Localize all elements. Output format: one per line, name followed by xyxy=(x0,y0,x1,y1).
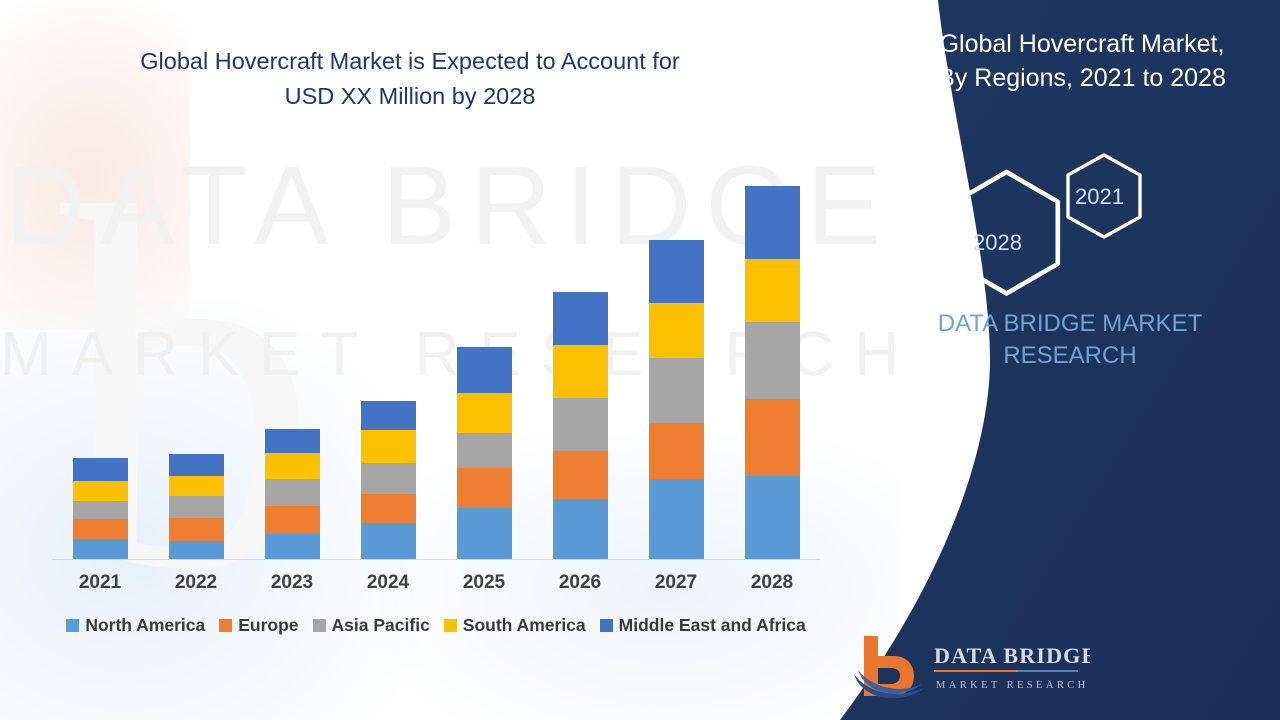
panel-brand-line-1: DATA BRIDGE MARKET xyxy=(900,308,1240,340)
bar-segment-north-america[interactable] xyxy=(649,479,704,559)
hexagon-end-year: 2028 xyxy=(955,172,1058,294)
bar-segment-asia-pacific[interactable] xyxy=(649,358,704,422)
panel-brand-name: DATA BRIDGE MARKET RESEARCH xyxy=(900,308,1240,373)
bar-segment-asia-pacific[interactable] xyxy=(169,496,224,518)
bar-segment-europe[interactable] xyxy=(265,506,320,534)
legend-item-north-america[interactable]: North America xyxy=(66,615,205,636)
stacked-bar[interactable] xyxy=(457,347,512,559)
bar-column-2027[interactable] xyxy=(628,240,724,559)
x-axis-label-2028: 2028 xyxy=(724,572,820,594)
bar-segment-north-america[interactable] xyxy=(457,508,512,559)
panel-title-line-1: Global Hovercraft Market, xyxy=(912,28,1252,62)
hexagon-svg: 2028 2021 xyxy=(900,145,1220,300)
bar-segment-south-america[interactable] xyxy=(553,345,608,397)
bar-segment-europe[interactable] xyxy=(73,519,128,539)
x-axis-label-2021: 2021 xyxy=(52,572,148,594)
x-axis-labels: 20212022202320242025202620272028 xyxy=(52,572,820,594)
right-info-panel: Global Hovercraft Market, By Regions, 20… xyxy=(840,0,1280,720)
logo-b-icon xyxy=(854,636,924,698)
logo-name-top: DATA BRIDGE xyxy=(934,643,1090,668)
bar-segment-south-america[interactable] xyxy=(361,430,416,463)
bar-segment-asia-pacific[interactable] xyxy=(73,501,128,519)
legend-swatch-icon xyxy=(600,619,613,632)
x-axis-label-2023: 2023 xyxy=(244,572,340,594)
panel-title-line-2: By Regions, 2021 to 2028 xyxy=(912,62,1252,96)
legend-item-europe[interactable]: Europe xyxy=(219,615,298,636)
stacked-bar[interactable] xyxy=(745,186,800,559)
bar-segment-asia-pacific[interactable] xyxy=(745,322,800,398)
legend-item-asia-pacific[interactable]: Asia Pacific xyxy=(313,615,430,636)
bar-segment-middle-east-and-africa[interactable] xyxy=(73,458,128,481)
chart-legend: North AmericaEuropeAsia PacificSouth Ame… xyxy=(52,615,820,636)
stacked-bar[interactable] xyxy=(265,429,320,559)
bar-column-2026[interactable] xyxy=(532,292,628,559)
x-axis-label-2022: 2022 xyxy=(148,572,244,594)
bar-segment-asia-pacific[interactable] xyxy=(361,463,416,494)
bar-segment-north-america[interactable] xyxy=(73,539,128,559)
bar-segment-north-america[interactable] xyxy=(265,534,320,559)
company-logo: DATA BRIDGE MARKET RESEARCH xyxy=(850,630,1090,702)
bar-segment-middle-east-and-africa[interactable] xyxy=(265,429,320,453)
stacked-bar[interactable] xyxy=(361,401,416,559)
x-axis-label-2026: 2026 xyxy=(532,572,628,594)
bar-segment-middle-east-and-africa[interactable] xyxy=(361,401,416,430)
bar-segment-asia-pacific[interactable] xyxy=(553,398,608,451)
bar-segment-europe[interactable] xyxy=(361,494,416,523)
stacked-bar[interactable] xyxy=(553,292,608,559)
x-axis-line xyxy=(52,559,820,560)
panel-title: Global Hovercraft Market, By Regions, 20… xyxy=(912,28,1252,96)
bar-segment-europe[interactable] xyxy=(553,451,608,499)
legend-label: South America xyxy=(463,615,586,636)
slide-canvas: b DATA BRIDGE MARKET RESEARCH Global Hov… xyxy=(0,0,1280,720)
bar-segment-north-america[interactable] xyxy=(169,541,224,559)
bar-segment-europe[interactable] xyxy=(745,399,800,476)
legend-label: Asia Pacific xyxy=(332,615,430,636)
bar-segment-middle-east-and-africa[interactable] xyxy=(457,347,512,392)
logo-name-bottom: MARKET RESEARCH xyxy=(936,680,1089,691)
bar-column-2022[interactable] xyxy=(148,454,244,559)
bar-segment-south-america[interactable] xyxy=(649,303,704,358)
chart-plot-area xyxy=(52,150,820,560)
legend-swatch-icon xyxy=(219,619,232,632)
stacked-bar[interactable] xyxy=(169,454,224,559)
bar-column-2028[interactable] xyxy=(724,186,820,559)
panel-brand-line-2: RESEARCH xyxy=(900,340,1240,372)
bar-column-2023[interactable] xyxy=(244,429,340,559)
hexagon-end-year-label: 2028 xyxy=(973,230,1022,255)
chart-title-line-1: Global Hovercraft Market is Expected to … xyxy=(60,44,760,79)
bar-segment-middle-east-and-africa[interactable] xyxy=(649,240,704,303)
legend-swatch-icon xyxy=(66,619,79,632)
legend-swatch-icon xyxy=(444,619,457,632)
hexagon-start-year: 2021 xyxy=(1068,155,1140,237)
legend-item-south-america[interactable]: South America xyxy=(444,615,586,636)
bar-segment-south-america[interactable] xyxy=(169,476,224,496)
legend-label: North America xyxy=(85,615,205,636)
stacked-bar[interactable] xyxy=(649,240,704,559)
legend-label: Middle East and Africa xyxy=(619,615,806,636)
bar-column-2024[interactable] xyxy=(340,401,436,559)
x-axis-label-2024: 2024 xyxy=(340,572,436,594)
panel-content: Global Hovercraft Market, By Regions, 20… xyxy=(840,0,1280,720)
bar-segment-asia-pacific[interactable] xyxy=(457,433,512,468)
bar-segment-south-america[interactable] xyxy=(73,481,128,501)
legend-item-middle-east-and-africa[interactable]: Middle East and Africa xyxy=(600,615,806,636)
bar-segment-south-america[interactable] xyxy=(745,259,800,322)
bar-segment-north-america[interactable] xyxy=(361,523,416,559)
bar-segment-asia-pacific[interactable] xyxy=(265,479,320,506)
legend-label: Europe xyxy=(238,615,298,636)
hexagon-year-badges: 2028 2021 xyxy=(900,145,1220,300)
bar-segment-europe[interactable] xyxy=(457,468,512,508)
bar-segment-south-america[interactable] xyxy=(457,393,512,433)
bar-segment-middle-east-and-africa[interactable] xyxy=(745,186,800,259)
legend-swatch-icon xyxy=(313,619,326,632)
bar-segment-middle-east-and-africa[interactable] xyxy=(553,292,608,345)
bar-segment-europe[interactable] xyxy=(169,518,224,541)
x-axis-label-2025: 2025 xyxy=(436,572,532,594)
bar-segment-europe[interactable] xyxy=(649,423,704,479)
chart-title-line-2: USD XX Million by 2028 xyxy=(60,79,760,114)
company-logo-svg: DATA BRIDGE MARKET RESEARCH xyxy=(850,630,1090,702)
bar-column-2021[interactable] xyxy=(52,458,148,559)
x-axis-label-2027: 2027 xyxy=(628,572,724,594)
bar-segment-middle-east-and-africa[interactable] xyxy=(169,454,224,476)
hexagon-start-year-label: 2021 xyxy=(1075,184,1124,209)
stacked-bar[interactable] xyxy=(73,458,128,559)
bar-group xyxy=(52,150,820,559)
chart-title: Global Hovercraft Market is Expected to … xyxy=(60,44,760,114)
bar-segment-north-america[interactable] xyxy=(553,499,608,559)
bar-segment-south-america[interactable] xyxy=(265,453,320,479)
bar-column-2025[interactable] xyxy=(436,347,532,559)
bar-segment-north-america[interactable] xyxy=(745,476,800,559)
